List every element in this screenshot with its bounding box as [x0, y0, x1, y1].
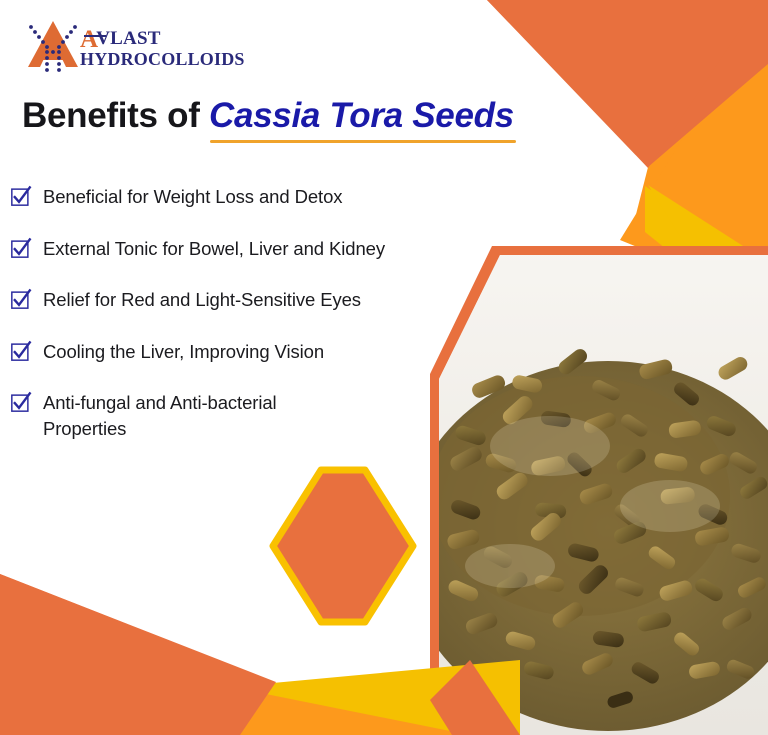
checkbox-checked-icon	[10, 288, 32, 310]
top-right-terracotta-triangle	[487, 0, 768, 167]
bottom-left-terracotta-triangle-b	[0, 574, 272, 735]
checkbox-checked-icon	[10, 185, 32, 207]
cassia-tora-seeds-photo	[430, 246, 768, 735]
page-title-accent: Cassia Tora Seeds	[209, 96, 514, 136]
top-right-terracotta-triangle-b	[487, 0, 760, 168]
page-title-underline	[210, 140, 516, 143]
logo-line-2: HYDROCOLLOIDS	[80, 50, 245, 68]
list-item: External Tonic for Bowel, Liver and Kidn…	[10, 236, 480, 262]
checkbox-checked-icon	[10, 237, 32, 259]
logo-line-1-text: VLAST	[96, 28, 160, 49]
avlast-triangle-mark-icon	[22, 18, 84, 74]
checkbox-checked-icon	[10, 340, 32, 362]
list-item: Beneficial for Weight Loss and Detox	[10, 184, 480, 210]
logo-wordmark: AVLAST HYDROCOLLOIDS	[80, 24, 245, 68]
list-item: Cooling the Liver, Improving Vision	[10, 339, 480, 365]
benefits-list: Beneficial for Weight Loss and Detox Ext…	[10, 184, 480, 467]
list-item-label: Beneficial for Weight Loss and Detox	[43, 184, 342, 210]
logo-initial: A	[80, 26, 98, 53]
infographic-poster: AVLAST HYDROCOLLOIDS Benefits of Cassia …	[0, 0, 768, 735]
decorative-hexagon	[273, 470, 413, 622]
page-title-accent-text: Cassia Tora Seeds	[209, 96, 514, 135]
list-item-label: Anti-fungal and Anti-bacterial Propertie…	[43, 390, 277, 441]
bottom-left-terracotta-triangle	[0, 575, 268, 735]
logo-crossbar	[84, 35, 106, 37]
page-title-plain: Benefits of	[22, 96, 209, 135]
list-item-label: Cooling the Liver, Improving Vision	[43, 339, 324, 365]
list-item: Anti-fungal and Anti-bacterial Propertie…	[10, 390, 480, 441]
list-item-label: Relief for Red and Light-Sensitive Eyes	[43, 287, 361, 313]
checkbox-checked-icon	[10, 391, 32, 413]
bottom-terracotta-wedge	[0, 574, 276, 735]
list-item: Relief for Red and Light-Sensitive Eyes	[10, 287, 480, 313]
brand-logo[interactable]: AVLAST HYDROCOLLOIDS	[22, 18, 245, 74]
seeds-illustration	[430, 246, 768, 735]
list-item-label: External Tonic for Bowel, Liver and Kidn…	[43, 236, 385, 262]
bottom-left-orange-triangle	[235, 678, 448, 735]
photo-image-area	[430, 246, 768, 735]
page-title: Benefits of Cassia Tora Seeds	[22, 96, 514, 136]
